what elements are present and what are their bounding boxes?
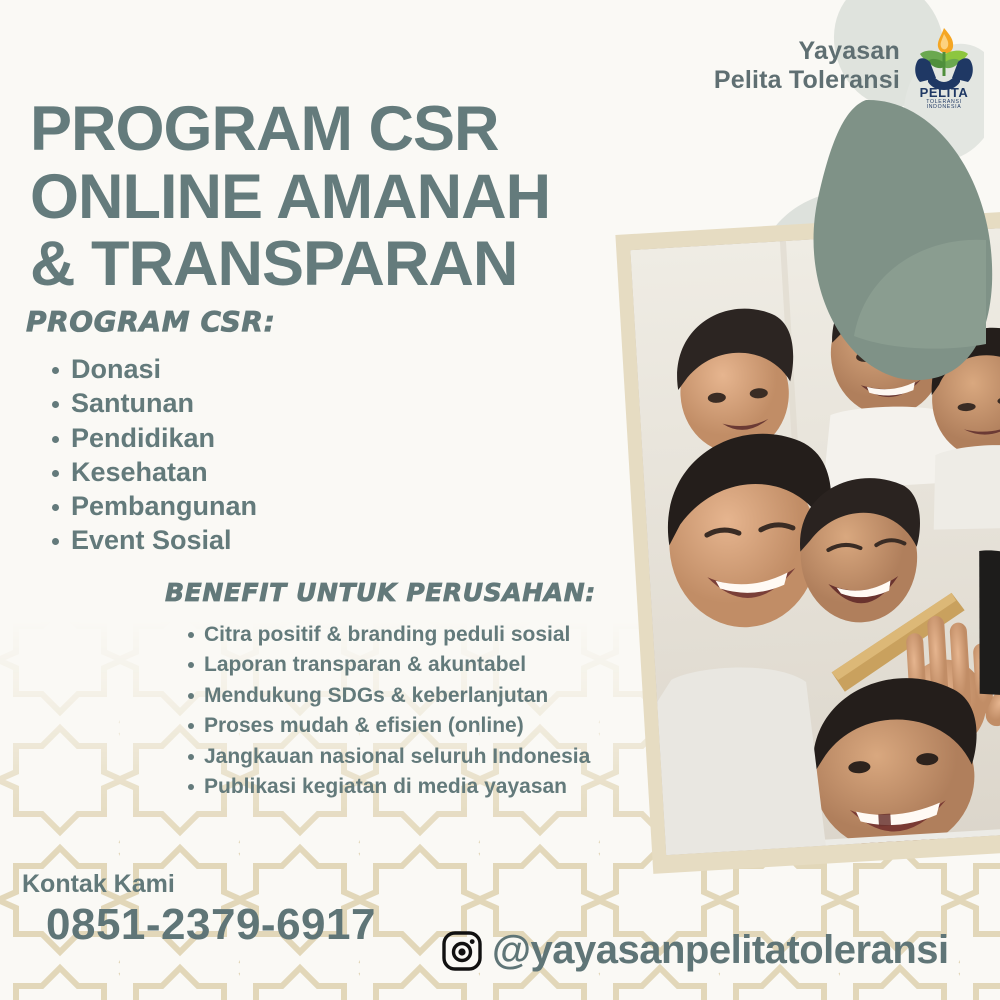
csr-section-heading: PROGRAM CSR: bbox=[26, 305, 275, 338]
bullet-icon bbox=[188, 662, 194, 668]
bullet-icon bbox=[52, 538, 59, 545]
benefit-section-heading: BENEFIT UNTUK PERUSAHAN: bbox=[165, 578, 596, 607]
benefit-list: Citra positif & branding peduli sosial L… bbox=[188, 620, 590, 803]
list-item-label: Event Sosial bbox=[71, 523, 232, 557]
csr-program-list: Donasi Santunan Pendidikan Kesehatan Pem… bbox=[52, 352, 257, 558]
list-item: Event Sosial bbox=[52, 523, 257, 557]
list-item: Pembangunan bbox=[52, 489, 257, 523]
list-item-label: Mendukung SDGs & keberlanjutan bbox=[204, 681, 548, 711]
list-item-label: Proses mudah & efisien (online) bbox=[204, 711, 524, 741]
photo-frame bbox=[615, 210, 1000, 874]
list-item-label: Donasi bbox=[71, 352, 161, 386]
brand-lockup: Yayasan Pelita Toleransi PELITA TOLERANS… bbox=[714, 24, 978, 108]
list-item-label: Citra positif & branding peduli sosial bbox=[204, 620, 570, 650]
bullet-icon bbox=[52, 504, 59, 511]
page-title: PROGRAM CSR ONLINE AMANAH & TRANSPARAN bbox=[30, 96, 550, 298]
bullet-icon bbox=[188, 784, 194, 790]
svg-text:PELITA: PELITA bbox=[920, 85, 969, 100]
bullet-icon bbox=[52, 367, 59, 374]
list-item: Laporan transparan & akuntabel bbox=[188, 650, 590, 680]
list-item: Citra positif & branding peduli sosial bbox=[188, 620, 590, 650]
contact-label: Kontak Kami bbox=[22, 870, 175, 899]
list-item: Santunan bbox=[52, 386, 257, 420]
bullet-icon bbox=[188, 693, 194, 699]
list-item-label: Laporan transparan & akuntabel bbox=[204, 650, 526, 680]
list-item: Mendukung SDGs & keberlanjutan bbox=[188, 681, 590, 711]
bullet-icon bbox=[52, 401, 59, 408]
list-item-label: Santunan bbox=[71, 386, 194, 420]
list-item-label: Pembangunan bbox=[71, 489, 257, 523]
list-item-label: Jangkauan nasional seluruh Indonesia bbox=[204, 742, 590, 772]
bullet-icon bbox=[188, 632, 194, 638]
poster-canvas: Yayasan Pelita Toleransi PELITA TOLERANS… bbox=[0, 0, 1000, 1000]
list-item: Pendidikan bbox=[52, 421, 257, 455]
bullet-icon bbox=[52, 436, 59, 443]
list-item-label: Publikasi kegiatan di media yayasan bbox=[204, 772, 567, 802]
instagram-row[interactable]: @yayasanpelitatoleransi bbox=[440, 928, 949, 973]
bullet-icon bbox=[52, 470, 59, 477]
list-item: Jangkauan nasional seluruh Indonesia bbox=[188, 742, 590, 772]
list-item-label: Kesehatan bbox=[71, 455, 208, 489]
photo-children bbox=[630, 227, 1000, 855]
instagram-icon[interactable] bbox=[440, 929, 484, 973]
list-item-label: Pendidikan bbox=[71, 421, 215, 455]
bullet-icon bbox=[188, 754, 194, 760]
list-item: Donasi bbox=[52, 352, 257, 386]
bullet-icon bbox=[188, 723, 194, 729]
list-item: Publikasi kegiatan di media yayasan bbox=[188, 772, 590, 802]
list-item: Kesehatan bbox=[52, 455, 257, 489]
svg-text:INDONESIA: INDONESIA bbox=[927, 104, 962, 108]
phone-number[interactable]: 0851-2379-6917 bbox=[46, 900, 376, 950]
instagram-handle[interactable]: @yayasanpelitatoleransi bbox=[492, 928, 949, 973]
brand-name: Yayasan Pelita Toleransi bbox=[714, 37, 900, 95]
pelita-toleransi-logo-icon: PELITA TOLERANSI INDONESIA bbox=[910, 24, 978, 108]
list-item: Proses mudah & efisien (online) bbox=[188, 711, 590, 741]
